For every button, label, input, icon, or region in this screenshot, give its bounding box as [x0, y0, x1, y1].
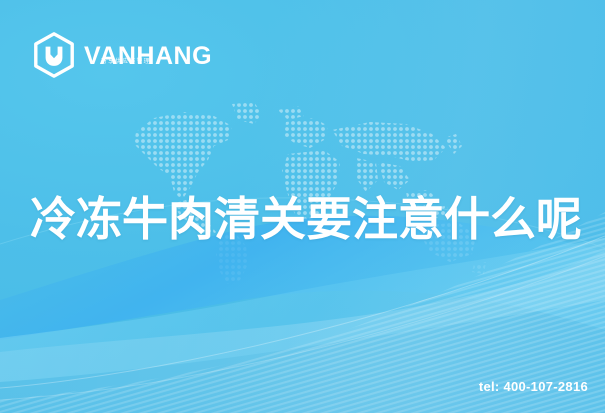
logo-subtitle: 万享供应链管理	[101, 59, 151, 65]
hexagon-shield-icon	[33, 32, 75, 78]
logo-wordmark: VANHANG	[84, 42, 212, 70]
logo-text-block: VANHANG 万享供应链管理	[84, 42, 212, 69]
contact-phone: tel: 400-107-2816	[479, 379, 588, 394]
banner-root: VANHANG 万享供应链管理 冷冻牛肉清关要注意什么呢 tel: 400-10…	[0, 0, 605, 413]
page-title: 冷冻牛肉清关要注意什么呢	[30, 196, 590, 242]
brand-logo[interactable]: VANHANG 万享供应链管理	[33, 31, 212, 79]
